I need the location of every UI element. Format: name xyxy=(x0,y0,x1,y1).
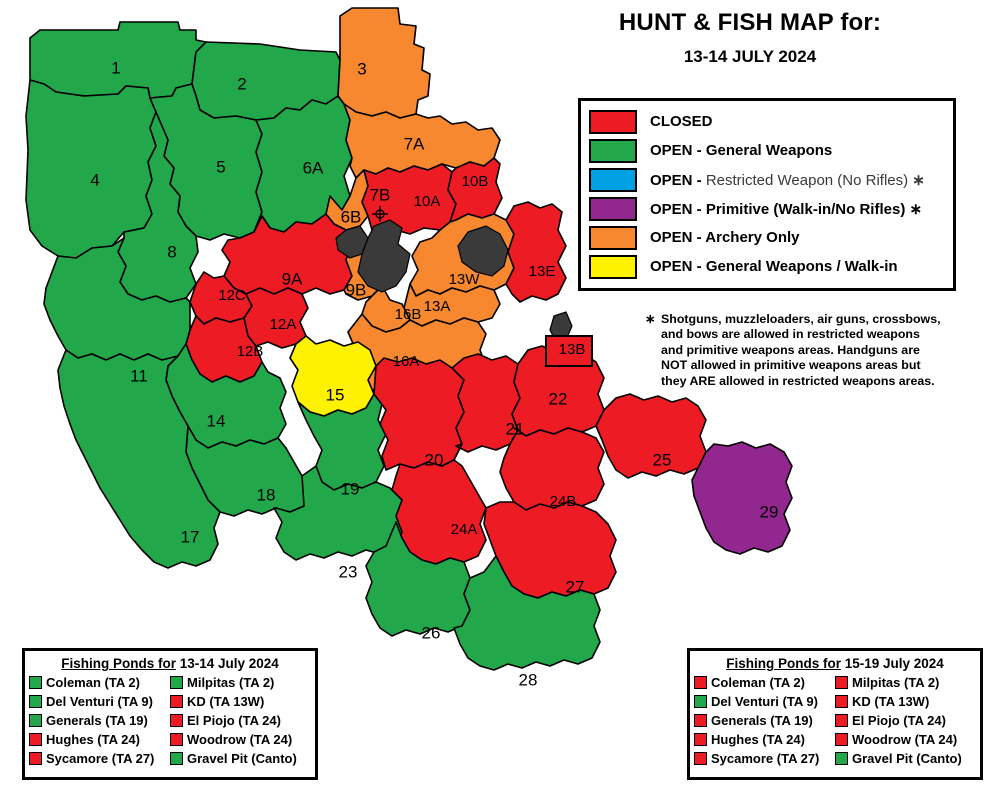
zone-label-24A: 24A xyxy=(451,521,478,538)
legend-item-0: CLOSED xyxy=(589,107,945,136)
zone-label-12A: 12A xyxy=(270,316,297,333)
ponds-left-title-date: 13-14 July 2024 xyxy=(180,656,279,671)
map-date-range: 13-14 JULY 2024 xyxy=(520,46,980,68)
footnote-text: Shotguns, muzzleloaders, air guns, cross… xyxy=(645,312,945,389)
legend-asterisk-icon-3: ∗ xyxy=(905,201,922,218)
zone-label-3: 3 xyxy=(357,59,366,78)
pond-status-swatch xyxy=(170,752,183,765)
pond-status-swatch xyxy=(29,714,42,727)
pond-name: Milpitas (TA 2) xyxy=(852,675,939,690)
zone-label-7B: 7B xyxy=(370,185,391,204)
zone-label-16B: 16B xyxy=(395,306,422,323)
zone-label-25: 25 xyxy=(653,450,672,469)
pond-status-swatch xyxy=(835,714,848,727)
legend-item-4: OPEN - Archery Only xyxy=(589,223,945,252)
zone-label-10B: 10B xyxy=(462,173,489,190)
zone-label-12B: 12B xyxy=(237,343,264,360)
zone-label-6A: 6A xyxy=(303,158,324,177)
pond-name: Milpitas (TA 2) xyxy=(187,675,274,690)
zone-label-22: 22 xyxy=(549,389,568,408)
pond-name: El Piojo (TA 24) xyxy=(852,713,946,728)
zone-label-27: 27 xyxy=(566,577,585,596)
pond-name: El Piojo (TA 24) xyxy=(187,713,281,728)
pond-status-swatch xyxy=(694,752,707,765)
pond-item: Generals (TA 19) xyxy=(29,711,170,730)
zone-area-20[interactable] xyxy=(374,358,464,470)
legend-swatch-5 xyxy=(589,255,637,279)
pond-name: Coleman (TA 2) xyxy=(46,675,140,690)
legend-swatch-3 xyxy=(589,197,637,221)
zone-label-1: 1 xyxy=(111,58,120,77)
zone-area-3[interactable] xyxy=(338,8,430,118)
pond-item: Generals (TA 19) xyxy=(694,711,835,730)
pond-item: El Piojo (TA 24) xyxy=(835,711,976,730)
fishing-ponds-legend-current: Fishing Ponds for 13-14 July 2024 Colema… xyxy=(22,648,318,780)
zone-label-9B: 9B xyxy=(346,280,367,299)
pond-status-swatch xyxy=(835,752,848,765)
legend-label-0: CLOSED xyxy=(650,113,713,130)
legend-item-5: OPEN - General Weapons / Walk-in xyxy=(589,252,945,281)
pond-item: KD (TA 13W) xyxy=(170,692,311,711)
ponds-left-grid: Coleman (TA 2)Milpitas (TA 2)Del Venturi… xyxy=(25,672,315,768)
pond-item: Sycamore (TA 27) xyxy=(694,749,835,768)
pond-name: Woodrow (TA 24) xyxy=(187,732,292,747)
pond-name: Del Venturi (TA 9) xyxy=(711,694,818,709)
pond-name: KD (TA 13W) xyxy=(187,694,264,709)
legend-item-3: OPEN - Primitive (Walk-in/No Rifles) ∗ xyxy=(589,194,945,223)
zone-label-19: 19 xyxy=(341,479,360,498)
zone-label-13E: 13E xyxy=(529,263,556,280)
footnote-asterisk-icon: ∗ xyxy=(645,312,655,327)
pond-status-swatch xyxy=(170,733,183,746)
legend-asterisk-icon-2: ∗ xyxy=(908,172,925,189)
pond-status-swatch xyxy=(170,695,183,708)
pond-name: Coleman (TA 2) xyxy=(711,675,805,690)
pond-item: Coleman (TA 2) xyxy=(694,673,835,692)
pond-name: Gravel Pit (Canto) xyxy=(852,751,962,766)
legend-item-2: OPEN - Restricted Weapon (No Rifles) ∗ xyxy=(589,165,945,194)
zone-label-5: 5 xyxy=(216,157,225,176)
zone-label-11: 11 xyxy=(130,366,148,385)
pond-status-swatch xyxy=(29,695,42,708)
zone-label-13A: 13A xyxy=(424,298,451,315)
pond-status-swatch xyxy=(170,714,183,727)
pond-name: Del Venturi (TA 9) xyxy=(46,694,153,709)
zone-area-29[interactable] xyxy=(692,442,792,554)
ponds-right-title-prefix: Fishing Ponds for xyxy=(726,656,841,671)
pond-item: KD (TA 13W) xyxy=(835,692,976,711)
ponds-right-title-date: 15-19 July 2024 xyxy=(845,656,944,671)
pond-status-swatch xyxy=(29,733,42,746)
zone-label-13W: 13W xyxy=(449,271,481,288)
pond-item: Del Venturi (TA 9) xyxy=(29,692,170,711)
zone-label-20: 20 xyxy=(425,450,444,469)
zone-label-8: 8 xyxy=(167,242,176,261)
pond-name: KD (TA 13W) xyxy=(852,694,929,709)
pond-item: Milpitas (TA 2) xyxy=(170,673,311,692)
ponds-right-title: Fishing Ponds for 15-19 July 2024 xyxy=(690,651,980,672)
zone-label-10A: 10A xyxy=(414,193,441,210)
pond-item: Coleman (TA 2) xyxy=(29,673,170,692)
zone-label-15: 15 xyxy=(326,385,345,404)
pond-name: Generals (TA 19) xyxy=(46,713,148,728)
pond-item: Del Venturi (TA 9) xyxy=(694,692,835,711)
pond-name: Hughes (TA 24) xyxy=(46,732,140,747)
zone-label-6B: 6B xyxy=(341,207,362,226)
map-legend: CLOSEDOPEN - General WeaponsOPEN - Restr… xyxy=(578,98,956,291)
zone-label-4: 4 xyxy=(90,170,99,189)
legend-swatch-4 xyxy=(589,226,637,250)
legend-label-3: OPEN - Primitive (Walk-in/No Rifles) ∗ xyxy=(650,200,922,218)
pond-item: El Piojo (TA 24) xyxy=(170,711,311,730)
map-title-block: HUNT & FISH MAP for: 13-14 JULY 2024 xyxy=(520,8,980,68)
pond-name: Hughes (TA 24) xyxy=(711,732,805,747)
zone-area-10B[interactable] xyxy=(448,158,502,222)
zone-label-16A: 16A xyxy=(393,353,420,370)
pond-name: Generals (TA 19) xyxy=(711,713,813,728)
zone-label-28: 28 xyxy=(519,670,538,689)
zone-label-17: 17 xyxy=(181,527,200,546)
zone-label-14: 14 xyxy=(207,411,226,430)
pond-status-swatch xyxy=(835,676,848,689)
pond-item: Gravel Pit (Canto) xyxy=(170,749,311,768)
legend-item-1: OPEN - General Weapons xyxy=(589,136,945,165)
fishing-ponds-legend-upcoming: Fishing Ponds for 15-19 July 2024 Colema… xyxy=(687,648,983,780)
ponds-left-title-prefix: Fishing Ponds for xyxy=(61,656,176,671)
pond-item: Hughes (TA 24) xyxy=(694,730,835,749)
zone-label-23: 23 xyxy=(339,562,358,581)
zone-label-24B: 24B xyxy=(550,493,577,510)
pond-name: Sycamore (TA 27) xyxy=(711,751,819,766)
pond-item: Woodrow (TA 24) xyxy=(170,730,311,749)
zone-label-7A: 7A xyxy=(404,134,425,153)
legend-swatch-0 xyxy=(589,110,637,134)
zone-area-13E[interactable] xyxy=(506,202,566,302)
ponds-right-grid: Coleman (TA 2)Milpitas (TA 2)Del Venturi… xyxy=(690,672,980,768)
pond-status-swatch xyxy=(835,733,848,746)
pond-name: Gravel Pit (Canto) xyxy=(187,751,297,766)
pond-status-swatch xyxy=(29,752,42,765)
pond-item: Hughes (TA 24) xyxy=(29,730,170,749)
page-title: HUNT & FISH MAP for: xyxy=(520,8,980,38)
pond-status-swatch xyxy=(29,676,42,689)
legend-swatch-2 xyxy=(589,168,637,192)
pond-item: Gravel Pit (Canto) xyxy=(835,749,976,768)
pond-item: Woodrow (TA 24) xyxy=(835,730,976,749)
pond-name: Sycamore (TA 27) xyxy=(46,751,154,766)
zone-label-13B: 13B xyxy=(559,341,586,358)
zone-label-29: 29 xyxy=(760,502,779,521)
legend-label-2: OPEN - Restricted Weapon (No Rifles) ∗ xyxy=(650,171,925,189)
pond-status-swatch xyxy=(694,733,707,746)
zone-area-25[interactable] xyxy=(596,394,706,478)
legend-swatch-1 xyxy=(589,139,637,163)
pond-name: Woodrow (TA 24) xyxy=(852,732,957,747)
ponds-left-title: Fishing Ponds for 13-14 July 2024 xyxy=(25,651,315,672)
pond-status-swatch xyxy=(835,695,848,708)
legend-label-4: OPEN - Archery Only xyxy=(650,229,800,246)
pond-status-swatch xyxy=(694,714,707,727)
zone-label-21: 21 xyxy=(506,419,525,438)
hunt-fish-map: 123456A7A6B7B810A10B9A9B13W13E13A13B16B1… xyxy=(0,0,1002,799)
legend-label-1: OPEN - General Weapons xyxy=(650,142,832,159)
zone-label-26: 26 xyxy=(422,623,441,642)
pond-item: Sycamore (TA 27) xyxy=(29,749,170,768)
legend-label-5: OPEN - General Weapons / Walk-in xyxy=(650,258,898,275)
zone-label-12C: 12C xyxy=(218,287,246,304)
legend-footnote: ∗ Shotguns, muzzleloaders, air guns, cro… xyxy=(645,312,945,389)
zone-label-18: 18 xyxy=(257,485,276,504)
zone-label-9A: 9A xyxy=(282,269,303,288)
pond-status-swatch xyxy=(694,695,707,708)
pond-item: Milpitas (TA 2) xyxy=(835,673,976,692)
pond-status-swatch xyxy=(170,676,183,689)
pond-status-swatch xyxy=(694,676,707,689)
zone-label-2: 2 xyxy=(237,74,246,93)
